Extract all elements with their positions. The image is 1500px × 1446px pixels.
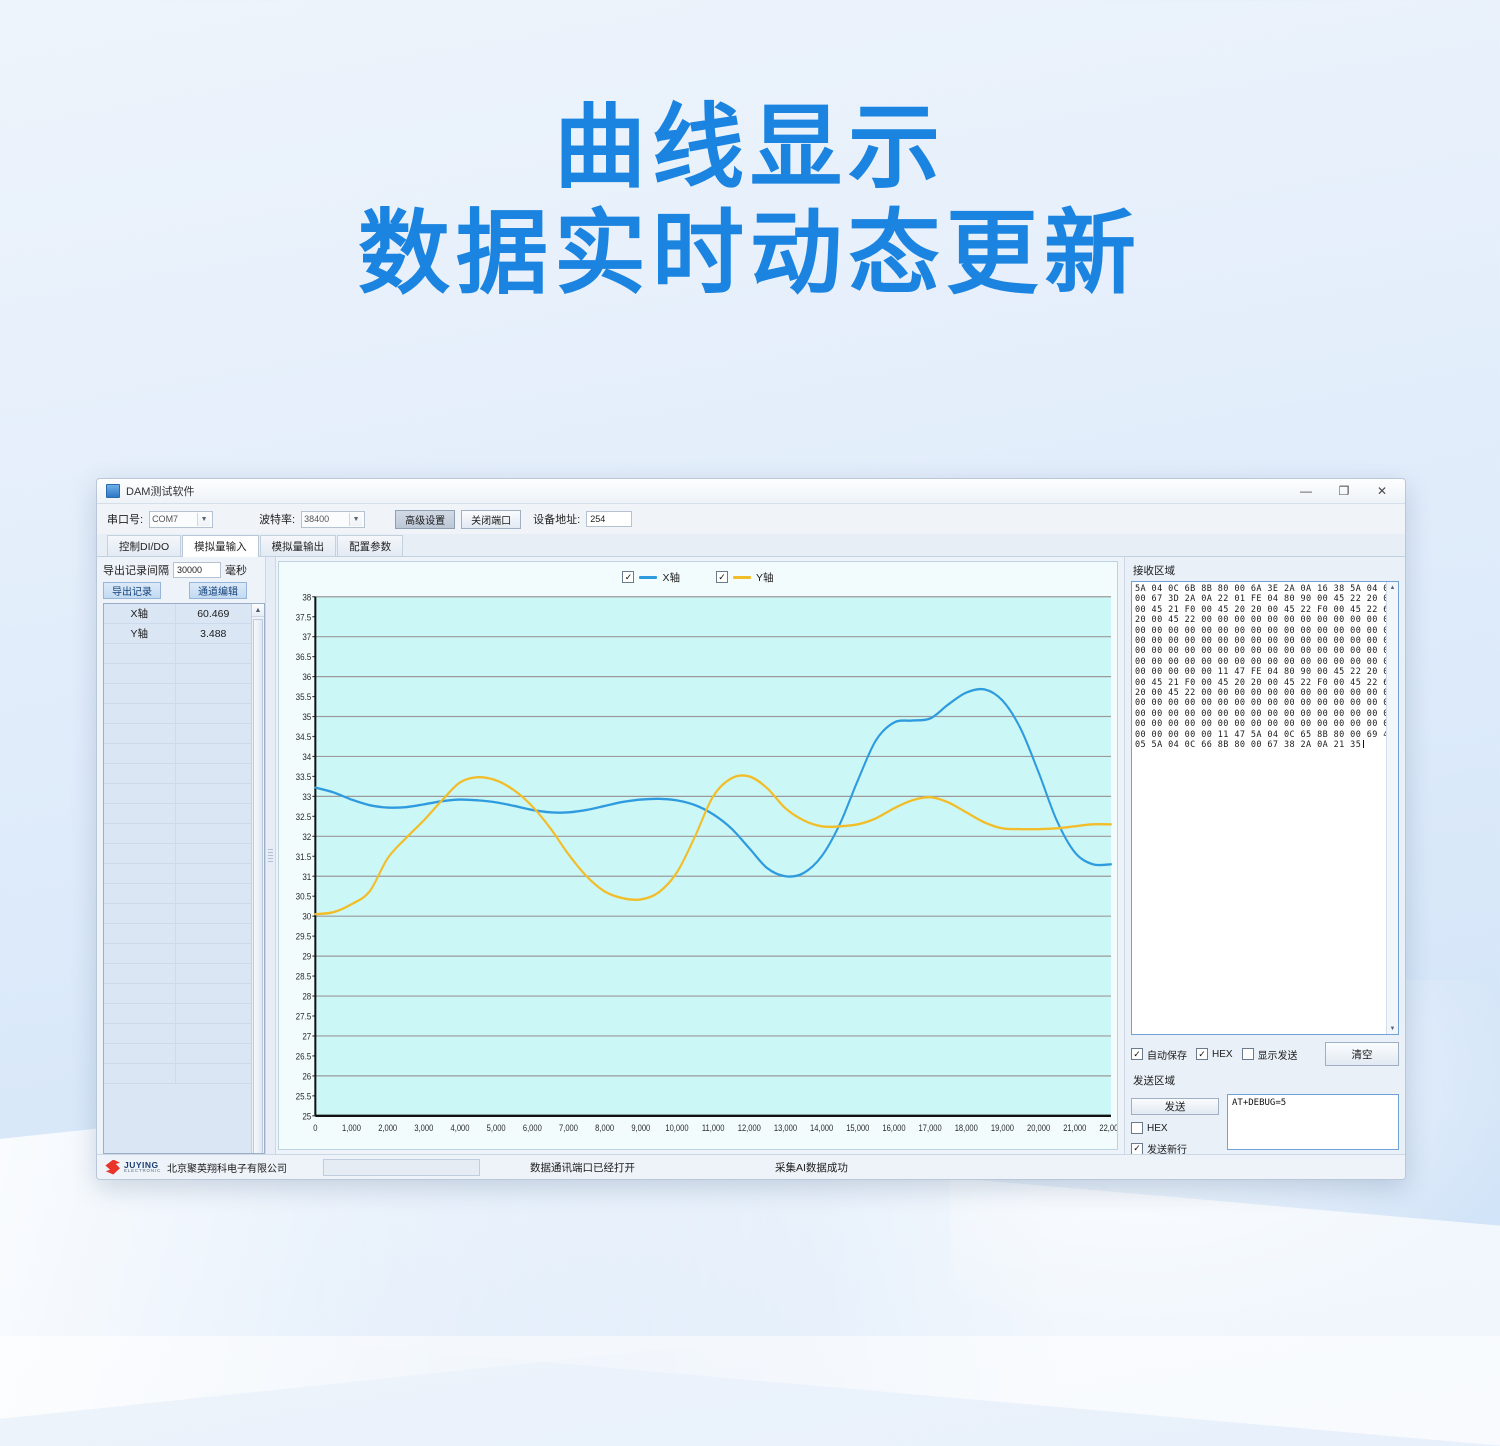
advanced-settings-button[interactable]: 高级设置 bbox=[395, 510, 455, 529]
send-hex-label: HEX bbox=[1147, 1123, 1168, 1134]
send-newline-checkbox[interactable]: ✓ bbox=[1131, 1143, 1143, 1155]
table-row-empty[interactable] bbox=[104, 764, 251, 784]
x-tick-label: 9,000 bbox=[631, 1124, 650, 1134]
clear-button[interactable]: 清空 bbox=[1325, 1042, 1399, 1066]
y-tick-label: 37.5 bbox=[296, 612, 312, 623]
send-area: 发送 HEX ✓ 发送新行 定时发送 100 毫秒 bbox=[1131, 1094, 1399, 1150]
x-tick-label: 20,000 bbox=[1027, 1124, 1051, 1134]
status-progress-box bbox=[323, 1159, 480, 1176]
tab-analog-input[interactable]: 模拟量输入 bbox=[182, 535, 259, 557]
table-row-empty[interactable] bbox=[104, 804, 251, 824]
tab-config-params[interactable]: 配置参数 bbox=[337, 535, 403, 556]
receive-hex-checkbox[interactable]: ✓ bbox=[1196, 1048, 1208, 1060]
y-tick-label: 36 bbox=[302, 672, 311, 683]
window-title: DAM测试软件 bbox=[126, 483, 194, 499]
auto-save-label: 自动保存 bbox=[1147, 1047, 1187, 1062]
legend-label-x: X轴 bbox=[662, 570, 680, 585]
status-message-2: 采集AI数据成功 bbox=[775, 1160, 848, 1175]
line-chart-svg: 2525.52626.52727.52828.52929.53030.53131… bbox=[279, 592, 1117, 1149]
table-row-empty[interactable] bbox=[104, 904, 251, 924]
plot-background bbox=[315, 597, 1111, 1116]
y-tick-label: 31.5 bbox=[296, 851, 312, 862]
logo-subtitle-en: ELECTRONIC bbox=[124, 1169, 161, 1174]
channel-table-scrollbar[interactable]: ▲ bbox=[251, 604, 264, 1153]
legend-item-x[interactable]: ✓ X轴 bbox=[622, 570, 680, 585]
serial-panel: 接收区域 5A 04 0C 6B 8B 80 00 6A 3E 2A 0A 16… bbox=[1124, 557, 1405, 1154]
x-tick-label: 17,000 bbox=[919, 1124, 943, 1134]
x-tick-label: 7,000 bbox=[559, 1124, 578, 1134]
y-tick-label: 33.5 bbox=[296, 771, 312, 782]
scroll-track[interactable] bbox=[252, 617, 264, 1153]
chevron-down-icon: ▼ bbox=[349, 513, 362, 526]
chart-panel: ✓ X轴 ✓ Y轴 2525.52626.52727.52828.52929.5… bbox=[276, 557, 1124, 1154]
y-tick-label: 36.5 bbox=[296, 652, 312, 663]
legend-swatch-y bbox=[733, 576, 751, 579]
y-tick-label: 27 bbox=[302, 1031, 311, 1042]
hex-line: 05 5A 04 0C 66 8B 80 00 67 38 2A 0A 21 3… bbox=[1135, 740, 1383, 750]
table-row[interactable]: Y轴3.488 bbox=[104, 624, 251, 644]
table-row-empty[interactable] bbox=[104, 944, 251, 964]
channel-table: X轴60.469Y轴3.488 ▲ bbox=[103, 603, 265, 1154]
plot-area[interactable]: 2525.52626.52727.52828.52929.53030.53131… bbox=[279, 592, 1117, 1149]
export-interval-input[interactable]: 30000 bbox=[173, 562, 221, 578]
y-tick-label: 35 bbox=[302, 711, 311, 722]
y-tick-label: 32 bbox=[302, 831, 311, 842]
logo-wordmark: JUYING ELECTRONIC bbox=[124, 1161, 161, 1174]
table-row-empty[interactable] bbox=[104, 1004, 251, 1024]
splitter-grip[interactable] bbox=[268, 849, 273, 863]
receive-content: 5A 04 0C 6B 8B 80 00 6A 3E 2A 0A 16 38 5… bbox=[1132, 582, 1386, 1034]
scroll-up-icon[interactable]: ▲ bbox=[252, 604, 264, 617]
receive-options-row: ✓ 自动保存 ✓ HEX 显示发送 清空 bbox=[1131, 1042, 1399, 1066]
hex-line: 20 00 45 22 00 00 00 00 00 00 00 00 00 0… bbox=[1135, 688, 1383, 698]
send-hex-checkbox[interactable] bbox=[1131, 1122, 1143, 1134]
channel-value: 60.469 bbox=[176, 604, 251, 623]
y-tick-label: 27.5 bbox=[296, 1011, 312, 1022]
device-address-label: 设备地址: bbox=[533, 511, 580, 527]
table-row[interactable]: X轴60.469 bbox=[104, 604, 251, 624]
y-tick-label: 28 bbox=[302, 991, 311, 1002]
panel-splitter[interactable] bbox=[265, 557, 276, 1154]
status-message-1: 数据通讯端口已经打开 bbox=[530, 1160, 635, 1175]
receive-textarea[interactable]: 5A 04 0C 6B 8B 80 00 6A 3E 2A 0A 16 38 5… bbox=[1131, 581, 1399, 1035]
channel-name: Y轴 bbox=[104, 624, 176, 643]
send-button[interactable]: 发送 bbox=[1131, 1098, 1219, 1115]
tab-analog-output[interactable]: 模拟量输出 bbox=[260, 535, 337, 556]
channel-table-body: X轴60.469Y轴3.488 bbox=[104, 604, 251, 1153]
window-controls: — ❐ ✕ bbox=[1287, 480, 1401, 502]
y-tick-label: 28.5 bbox=[296, 971, 312, 982]
table-row-empty[interactable] bbox=[104, 984, 251, 1004]
table-row-empty[interactable] bbox=[104, 744, 251, 764]
send-controls: 发送 HEX ✓ 发送新行 定时发送 100 毫秒 bbox=[1131, 1094, 1219, 1150]
hex-line: 00 00 00 00 00 00 00 00 00 00 00 00 00 0… bbox=[1135, 646, 1383, 656]
flame-logo-icon bbox=[105, 1160, 120, 1175]
show-send-label: 显示发送 bbox=[1258, 1047, 1298, 1062]
hex-line: 00 67 3D 2A 0A 22 01 FE 04 80 90 00 45 2… bbox=[1135, 594, 1383, 604]
hex-line: 00 45 21 F0 00 45 20 20 00 45 22 F0 00 4… bbox=[1135, 678, 1383, 688]
hero-line-1: 曲线显示 bbox=[0, 96, 1500, 200]
export-interval-row: 导出记录间隔 30000 毫秒 bbox=[103, 562, 265, 578]
text-caret bbox=[1363, 740, 1364, 748]
x-tick-label: 3,000 bbox=[414, 1124, 433, 1134]
hex-line: 20 00 45 22 00 00 00 00 00 00 00 00 00 0… bbox=[1135, 615, 1383, 625]
legend-checkbox-x[interactable]: ✓ bbox=[622, 571, 634, 583]
title-bar: DAM测试软件 — ❐ ✕ bbox=[97, 479, 1405, 504]
y-tick-label: 33 bbox=[302, 791, 311, 802]
hex-line: 00 00 00 00 00 00 00 00 00 00 00 00 00 0… bbox=[1135, 626, 1383, 636]
receive-area-title: 接收区域 bbox=[1133, 563, 1399, 578]
auto-save-checkbox[interactable]: ✓ bbox=[1131, 1048, 1143, 1060]
table-row-empty[interactable] bbox=[104, 784, 251, 804]
hex-line: 00 00 00 00 00 00 00 00 00 00 00 00 00 0… bbox=[1135, 709, 1383, 719]
y-tick-label: 25.5 bbox=[296, 1091, 312, 1102]
table-row-empty[interactable] bbox=[104, 924, 251, 944]
x-tick-label: 13,000 bbox=[774, 1124, 798, 1134]
close-port-button[interactable]: 关闭端口 bbox=[461, 510, 521, 529]
hex-line: 00 45 21 F0 00 45 20 20 00 45 22 F0 00 4… bbox=[1135, 605, 1383, 615]
channel-edit-button[interactable]: 通道编辑 bbox=[189, 582, 247, 599]
maximize-icon[interactable]: ❐ bbox=[1325, 480, 1363, 502]
y-tick-label: 30 bbox=[302, 911, 311, 922]
scroll-down-icon[interactable]: ▼ bbox=[1387, 1023, 1398, 1034]
x-tick-label: 8,000 bbox=[595, 1124, 614, 1134]
table-row-empty[interactable] bbox=[104, 1064, 251, 1084]
receive-hex-option[interactable]: ✓ HEX bbox=[1196, 1048, 1233, 1060]
x-tick-label: 1,000 bbox=[342, 1124, 361, 1134]
table-row-empty[interactable] bbox=[104, 964, 251, 984]
x-tick-label: 12,000 bbox=[738, 1124, 762, 1134]
x-tick-label: 6,000 bbox=[523, 1124, 542, 1134]
port-label: 串口号: bbox=[107, 511, 143, 527]
port-value: COM7 bbox=[152, 514, 197, 524]
connection-toolbar: 串口号: COM7 ▼ 波特率: 38400 ▼ 高级设置 关闭端口 设备地址:… bbox=[97, 504, 1405, 534]
send-area-title: 发送区域 bbox=[1133, 1073, 1399, 1088]
window-body: 导出记录间隔 30000 毫秒 导出记录 通道编辑 X轴60.469Y轴3.48… bbox=[97, 557, 1405, 1154]
hex-line: 00 00 00 00 00 00 00 00 00 00 00 00 00 0… bbox=[1135, 657, 1383, 667]
x-tick-label: 4,000 bbox=[451, 1124, 470, 1134]
status-bar: JUYING ELECTRONIC 北京聚英翔科电子有限公司 数据通讯端口已经打… bbox=[97, 1154, 1405, 1179]
send-hex-option[interactable]: HEX bbox=[1131, 1122, 1219, 1134]
export-record-button[interactable]: 导出记录 bbox=[103, 582, 161, 599]
x-tick-label: 0 bbox=[313, 1124, 318, 1134]
hex-line: 5A 04 0C 6B 8B 80 00 6A 3E 2A 0A 16 38 5… bbox=[1135, 584, 1383, 594]
send-text: AT+DEBUG=5 bbox=[1232, 1098, 1394, 1108]
legend-swatch-x bbox=[639, 576, 657, 579]
table-row-empty[interactable] bbox=[104, 704, 251, 724]
hex-line: 00 00 00 00 00 11 47 5A 04 0C 65 8B 80 0… bbox=[1135, 730, 1383, 740]
y-tick-label: 35.5 bbox=[296, 692, 312, 703]
export-interval-unit: 毫秒 bbox=[225, 562, 247, 578]
hex-line: 00 00 00 00 00 11 47 FE 04 80 90 00 45 2… bbox=[1135, 667, 1383, 677]
chart-legend: ✓ X轴 ✓ Y轴 bbox=[279, 562, 1117, 592]
legend-checkbox-y[interactable]: ✓ bbox=[716, 571, 728, 583]
y-tick-label: 30.5 bbox=[296, 891, 312, 902]
show-send-checkbox[interactable] bbox=[1242, 1048, 1254, 1060]
y-tick-label: 29 bbox=[302, 951, 311, 962]
app-icon bbox=[106, 484, 120, 498]
export-interval-label: 导出记录间隔 bbox=[103, 562, 169, 578]
receive-hex-label: HEX bbox=[1212, 1049, 1233, 1060]
scroll-up-icon[interactable]: ▲ bbox=[1387, 582, 1398, 593]
legend-label-y: Y轴 bbox=[756, 570, 774, 585]
chart-container: ✓ X轴 ✓ Y轴 2525.52626.52727.52828.52929.5… bbox=[278, 561, 1118, 1150]
auto-save-option[interactable]: ✓ 自动保存 bbox=[1131, 1047, 1187, 1062]
table-row-empty[interactable] bbox=[104, 1024, 251, 1044]
x-tick-label: 5,000 bbox=[487, 1124, 506, 1134]
table-row-empty[interactable] bbox=[104, 1044, 251, 1064]
channel-name: X轴 bbox=[104, 604, 176, 623]
hero-headline: 曲线显示 数据实时动态更新 bbox=[0, 96, 1500, 308]
y-tick-label: 31 bbox=[302, 871, 311, 882]
table-row-empty[interactable] bbox=[104, 864, 251, 884]
hex-line: 00 00 00 00 00 00 00 00 00 00 00 00 00 0… bbox=[1135, 698, 1383, 708]
x-tick-label: 2,000 bbox=[378, 1124, 397, 1134]
tab-bar: 控制DI/DO 模拟量输入 模拟量输出 配置参数 bbox=[97, 534, 1405, 557]
tab-control-di-do[interactable]: 控制DI/DO bbox=[107, 535, 181, 556]
y-tick-label: 29.5 bbox=[296, 931, 312, 942]
chevron-down-icon: ▼ bbox=[197, 513, 210, 526]
baud-label: 波特率: bbox=[259, 511, 295, 527]
x-tick-label: 15,000 bbox=[846, 1124, 870, 1134]
company-logo: JUYING ELECTRONIC 北京聚英翔科电子有限公司 bbox=[105, 1160, 315, 1175]
export-buttons-row: 导出记录 通道编辑 bbox=[103, 582, 265, 599]
hex-line: 00 00 00 00 00 00 00 00 00 00 00 00 00 0… bbox=[1135, 636, 1383, 646]
hero-line-2: 数据实时动态更新 bbox=[0, 200, 1500, 308]
y-tick-label: 34 bbox=[302, 751, 311, 762]
table-row-empty[interactable] bbox=[104, 844, 251, 864]
x-tick-label: 22,000 bbox=[1099, 1124, 1117, 1134]
table-row-empty[interactable] bbox=[104, 824, 251, 844]
hex-line: 00 00 00 00 00 00 00 00 00 00 00 00 00 0… bbox=[1135, 719, 1383, 729]
y-tick-label: 25 bbox=[302, 1111, 311, 1122]
x-tick-label: 11,000 bbox=[702, 1124, 725, 1134]
table-row-empty[interactable] bbox=[104, 884, 251, 904]
app-window: DAM测试软件 — ❐ ✕ 串口号: COM7 ▼ 波特率: 38400 ▼ 高… bbox=[96, 478, 1406, 1180]
y-tick-label: 26 bbox=[302, 1071, 311, 1082]
table-row-empty[interactable] bbox=[104, 684, 251, 704]
scroll-thumb[interactable] bbox=[253, 619, 263, 1154]
x-tick-label: 18,000 bbox=[955, 1124, 979, 1134]
send-textarea[interactable]: AT+DEBUG=5 bbox=[1227, 1094, 1399, 1150]
left-panel: 导出记录间隔 30000 毫秒 导出记录 通道编辑 X轴60.469Y轴3.48… bbox=[97, 557, 265, 1154]
y-tick-label: 38 bbox=[302, 592, 311, 602]
x-tick-label: 21,000 bbox=[1063, 1124, 1087, 1134]
minimize-icon[interactable]: — bbox=[1287, 480, 1325, 502]
baud-select[interactable]: 38400 ▼ bbox=[301, 511, 365, 528]
legend-item-y[interactable]: ✓ Y轴 bbox=[716, 570, 774, 585]
channel-value: 3.488 bbox=[176, 624, 251, 643]
baud-value: 38400 bbox=[304, 514, 349, 524]
table-row-empty[interactable] bbox=[104, 724, 251, 744]
y-tick-label: 34.5 bbox=[296, 731, 312, 742]
logo-company-cn: 北京聚英翔科电子有限公司 bbox=[167, 1160, 287, 1175]
receive-scrollbar[interactable]: ▲ ▼ bbox=[1386, 582, 1398, 1034]
x-tick-label: 16,000 bbox=[882, 1124, 906, 1134]
x-tick-label: 19,000 bbox=[991, 1124, 1015, 1134]
x-tick-label: 14,000 bbox=[810, 1124, 834, 1134]
table-row-empty[interactable] bbox=[104, 664, 251, 684]
show-send-option[interactable]: 显示发送 bbox=[1242, 1047, 1298, 1062]
port-select[interactable]: COM7 ▼ bbox=[149, 511, 213, 528]
y-tick-label: 37 bbox=[302, 632, 311, 643]
y-tick-label: 26.5 bbox=[296, 1051, 312, 1062]
close-icon[interactable]: ✕ bbox=[1363, 480, 1401, 502]
y-tick-label: 32.5 bbox=[296, 811, 312, 822]
device-address-input[interactable]: 254 bbox=[586, 511, 632, 527]
x-tick-label: 10,000 bbox=[665, 1124, 689, 1134]
table-row-empty[interactable] bbox=[104, 644, 251, 664]
